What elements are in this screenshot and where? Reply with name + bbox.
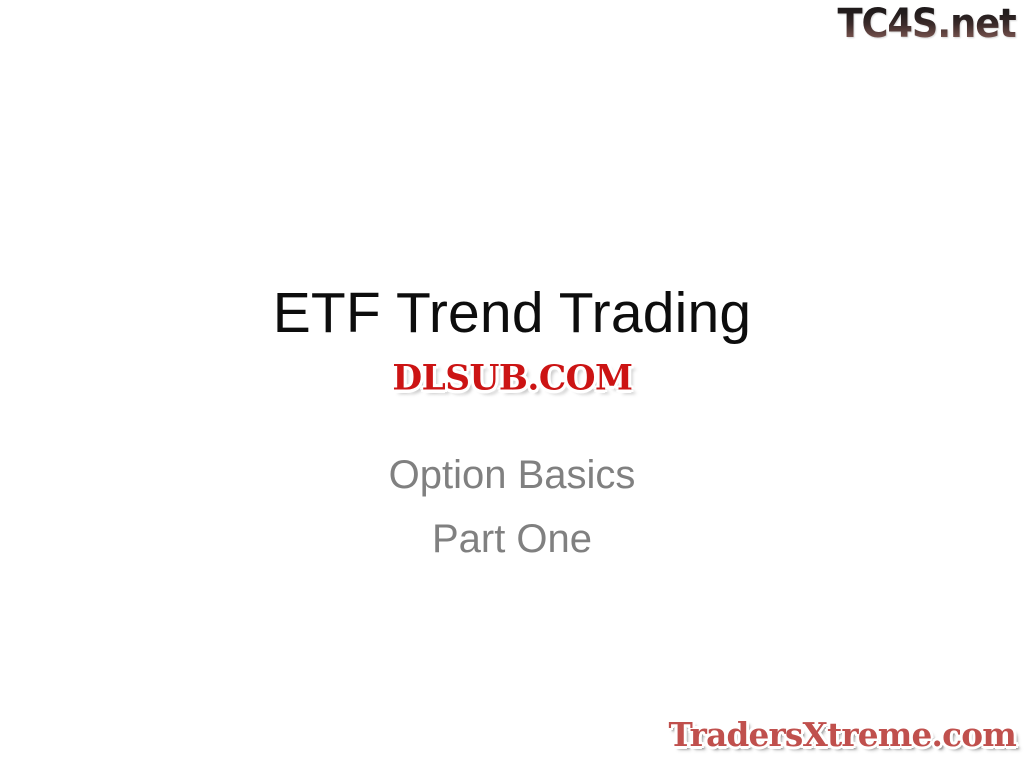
subtitle-line-primary: Option Basics	[0, 443, 1024, 507]
subtitle-line-secondary: Part One	[0, 507, 1024, 571]
tradersxtreme-brand-logo: TradersXtreme.com	[668, 716, 1016, 754]
subtitle-block: Option Basics Part One	[0, 443, 1024, 571]
title-block: ETF Trend Trading	[0, 282, 1024, 344]
slide-title: ETF Trend Trading	[0, 282, 1024, 344]
tc4s-site-logo: TC4S.net	[838, 2, 1016, 46]
dlsub-watermark: DLSUB.COM	[392, 357, 632, 399]
watermark-container: DLSUB.COM	[0, 358, 1024, 398]
presentation-slide: TC4S.net ETF Trend Trading DLSUB.COM Opt…	[0, 0, 1024, 768]
